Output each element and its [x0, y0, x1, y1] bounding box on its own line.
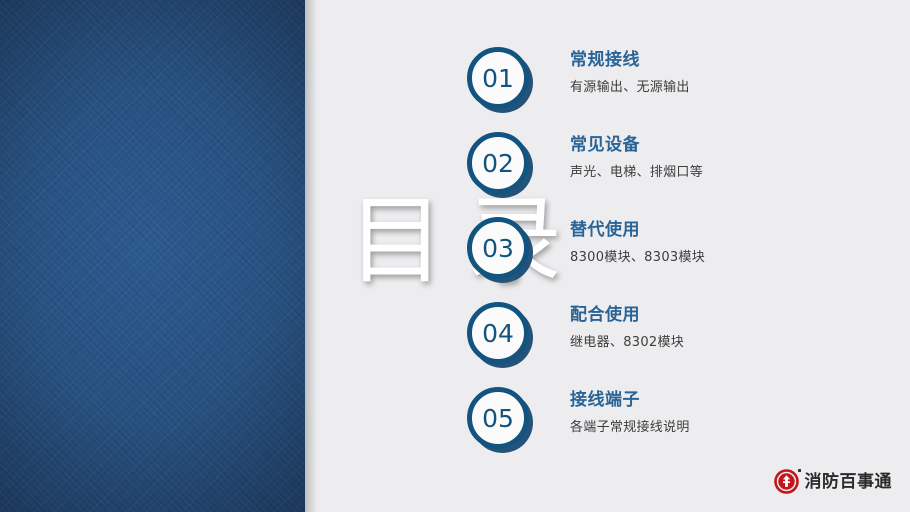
toc-text-block: 替代使用 8300模块、8303模块: [570, 218, 705, 267]
toc-item-02[interactable]: 02 常见设备 声光、电梯、排烟口等: [455, 127, 875, 212]
toc-item-subtitle: 声光、电梯、排烟口等: [570, 164, 703, 182]
fire-safety-logo-icon: [774, 469, 799, 494]
badge-number: 02: [482, 151, 514, 176]
toc-item-03[interactable]: 03 替代使用 8300模块、8303模块: [455, 212, 875, 297]
number-badge-01: 01: [467, 47, 533, 113]
number-badge-03: 03: [467, 217, 533, 283]
logo-accent-dot: [798, 469, 801, 472]
toc-item-01[interactable]: 01 常规接线 有源输出、无源输出: [455, 42, 875, 127]
presentation-slide: 目录 01 常规接线 有源输出、无源输出 02 常见设备: [0, 0, 910, 512]
badge-circle: 05: [467, 387, 529, 449]
toc-text-block: 接线端子 各端子常规接线说明: [570, 388, 690, 437]
brand-name: 消防百事通: [805, 472, 893, 492]
toc-item-05[interactable]: 05 接线端子 各端子常规接线说明: [455, 382, 875, 467]
toc-item-subtitle: 有源输出、无源输出: [570, 79, 690, 97]
number-badge-04: 04: [467, 302, 533, 368]
number-badge-02: 02: [467, 132, 533, 198]
toc-item-title: 替代使用: [570, 218, 705, 242]
badge-circle: 04: [467, 302, 529, 364]
toc-item-subtitle: 8300模块、8303模块: [570, 249, 705, 267]
table-of-contents: 01 常规接线 有源输出、无源输出 02 常见设备 声光、电梯、排烟口等: [455, 42, 875, 467]
badge-number: 05: [482, 406, 514, 431]
badge-circle: 03: [467, 217, 529, 279]
toc-item-04[interactable]: 04 配合使用 继电器、8302模块: [455, 297, 875, 382]
toc-item-title: 接线端子: [570, 388, 690, 412]
badge-number: 04: [482, 321, 514, 346]
number-badge-05: 05: [467, 387, 533, 453]
toc-item-subtitle: 各端子常规接线说明: [570, 419, 690, 437]
brand-logo: 消防百事通: [774, 469, 893, 494]
toc-text-block: 常见设备 声光、电梯、排烟口等: [570, 133, 703, 182]
toc-text-block: 配合使用 继电器、8302模块: [570, 303, 684, 352]
toc-item-title: 常规接线: [570, 48, 690, 72]
toc-item-title: 配合使用: [570, 303, 684, 327]
toc-item-title: 常见设备: [570, 133, 703, 157]
toc-item-subtitle: 继电器、8302模块: [570, 334, 684, 352]
toc-text-block: 常规接线 有源输出、无源输出: [570, 48, 690, 97]
badge-number: 03: [482, 236, 514, 261]
badge-circle: 02: [467, 132, 529, 194]
badge-circle: 01: [467, 47, 529, 109]
badge-number: 01: [482, 66, 514, 91]
